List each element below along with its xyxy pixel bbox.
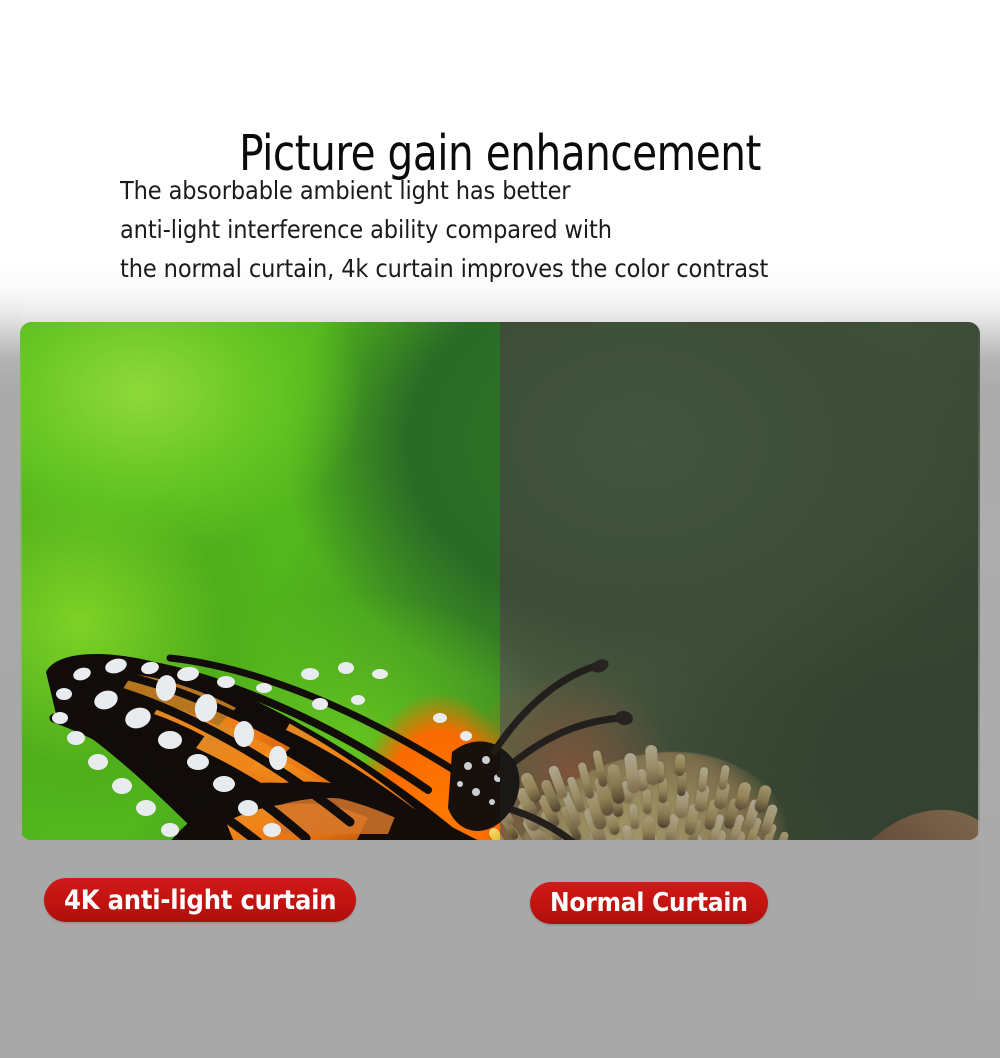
description-line-3: the normal curtain, 4k curtain improves … bbox=[120, 249, 990, 288]
monarch-butterfly-muted bbox=[500, 322, 980, 840]
right-edge-shading bbox=[978, 300, 1000, 1058]
comparison-half-right bbox=[500, 322, 980, 840]
monarch-butterfly bbox=[20, 322, 500, 840]
product-feature-banner: Picture gain enhancement The absorbable … bbox=[0, 0, 1000, 1058]
comparison-image bbox=[20, 322, 980, 840]
butterfly-body bbox=[500, 741, 520, 831]
scene-vivid bbox=[20, 322, 500, 840]
left-edge-shading bbox=[0, 300, 22, 1058]
butterfly-antennae bbox=[500, 666, 620, 840]
description-line-2: anti-light interference ability compared… bbox=[120, 210, 990, 249]
badge-normal-curtain: Normal Curtain bbox=[530, 882, 768, 924]
description-line-1: The absorbable ambient light has better bbox=[120, 171, 990, 210]
description-text: The absorbable ambient light has better … bbox=[120, 171, 990, 288]
scene-muted bbox=[500, 322, 980, 840]
badge-4k-anti-light-curtain: 4K anti-light curtain bbox=[44, 878, 356, 922]
comparison-half-left bbox=[20, 322, 500, 840]
